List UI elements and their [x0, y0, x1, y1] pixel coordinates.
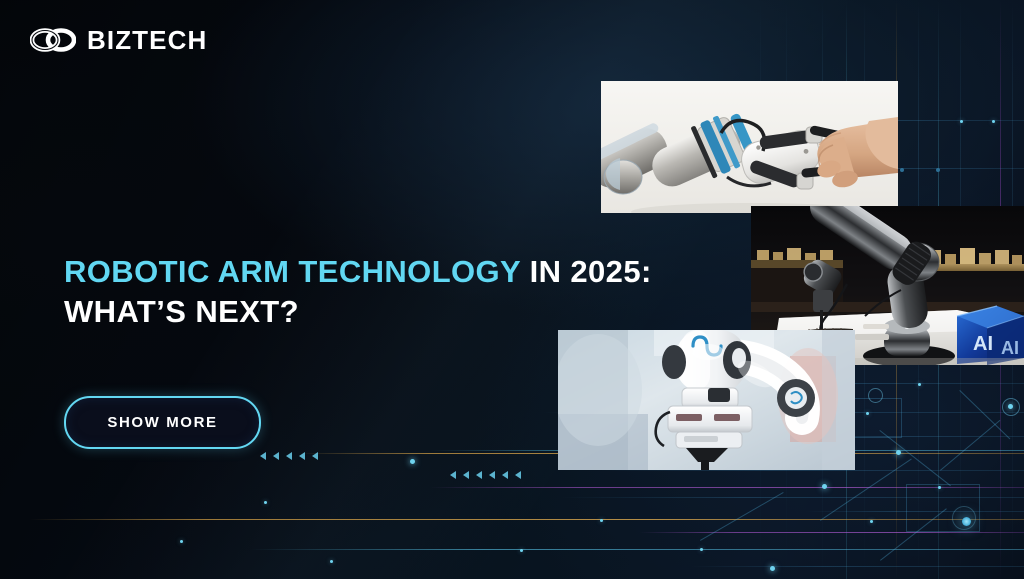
show-more-button[interactable]: SHOW MORE: [64, 396, 261, 449]
promo-banner: BIZTECH ROBOTIC ARM TECHNOLOGY IN 2025: …: [0, 0, 1024, 579]
headline-line-2: WHAT’S NEXT?: [64, 292, 714, 332]
brand-name: BIZTECH: [87, 27, 207, 53]
show-more-label: SHOW MORE: [107, 414, 217, 431]
image-robot-hand-handshake: [601, 81, 898, 213]
image-white-cobot-gripper: [558, 330, 855, 470]
headline-accent-text: ROBOTIC ARM TECHNOLOGY: [64, 254, 521, 289]
headline-rest-text: IN 2025:: [521, 254, 652, 289]
svg-text:AI: AI: [1001, 338, 1019, 358]
interlocking-links-icon: [30, 27, 76, 53]
headline-line-1: ROBOTIC ARM TECHNOLOGY IN 2025:: [64, 252, 714, 292]
brand-logo[interactable]: BIZTECH: [30, 27, 207, 53]
hero-headline: ROBOTIC ARM TECHNOLOGY IN 2025: WHAT’S N…: [64, 252, 714, 331]
svg-text:AI: AI: [973, 333, 993, 355]
